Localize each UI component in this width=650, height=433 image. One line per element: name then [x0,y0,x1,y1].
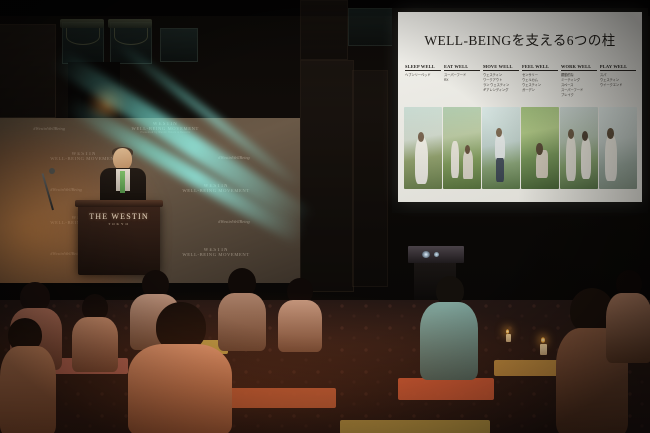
valance-left [60,19,104,28]
projector-device [408,246,464,263]
backdrop-hashtag: #WestinWellBeing [218,155,250,160]
pillar-item: ガーデン [522,88,558,93]
backdrop-hashtag: #WestinWellBeing [218,219,250,224]
speaker-head [113,148,132,170]
audience-member [72,294,118,370]
yoga-mat [398,378,494,400]
audience-torso [128,344,232,433]
pillar-heading: EAT WELL [444,64,480,71]
pillar-heading: WORK WELL [561,64,597,71]
slide-photo [404,107,442,189]
event-photo-scene: #WestinWellBeing WESTIN WELL-BEING MOVEM… [0,0,650,433]
backdrop-logo: WESTIN WELL-BEING MOVEMENT [182,248,249,258]
slide-photo-strip [404,107,637,189]
wall-panel-left-3 [352,70,388,287]
slide-photo [560,107,598,189]
audience-torso [0,346,56,433]
pillar-column: EAT WELL スーパーフード RX [444,64,480,99]
audience-member-far-right [606,270,650,362]
backdrop-logo: WESTIN WELL-BEING MOVEMENT [182,184,249,194]
pillar-column: PLAY WELL スパ ウェスティン ウイークエンド [600,64,636,99]
swag-drape-left [66,28,100,45]
podium-brand-plate: THE WESTIN TOKYO [78,212,160,226]
backdrop-campaign: WELL-BEING MOVEMENT [182,253,249,258]
backdrop-hashtag [266,126,267,131]
slide-pillar-columns: SLEEP WELL ヘブンリーベッド EAT WELL スーパーフード RX … [405,64,636,99]
audience-torso [72,317,118,372]
backdrop-campaign: WELL-BEING MOVEMENT [182,189,249,194]
pillar-heading: PLAY WELL [600,64,636,71]
audience-member-midleft [0,318,56,433]
pillar-item: ギアレンディング [483,88,519,93]
projector-lens-icon [422,251,430,258]
valance-right [108,19,152,28]
pillar-heading: FEEL WELL [522,64,558,71]
slide-photo [599,107,637,189]
audience-torso [278,300,322,352]
candle [540,344,547,355]
audience-member-foreground [128,302,232,433]
pillar-column: SLEEP WELL ヘブンリーベッド [405,64,441,99]
pillar-heading: MOVE WELL [483,64,519,71]
wall-panel-left-1 [0,24,56,118]
yoga-mat [340,420,490,433]
audience-torso [606,293,650,363]
corridor-light-glow [86,84,128,118]
swag-drape-right [114,28,148,45]
pillar-item: ウイークエンド [600,83,636,88]
candle-flame-icon [506,329,509,334]
window-transom-center [348,8,394,46]
microphone-head-icon [49,168,55,174]
podium-brand-name: THE WESTIN [78,212,160,221]
wall-panel-left-2 [300,60,354,292]
candle [506,334,511,342]
wall-panel-right-1 [300,0,348,60]
podium-city-name: TOKYO [78,222,160,226]
slide-photo [521,107,559,189]
presentation-slide: WELL-BEINGを支える6つの柱 SLEEP WELL ヘブンリーベッド E… [398,12,642,202]
audience-member-seated [420,276,478,380]
lectern-podium: THE WESTIN TOKYO [78,205,160,275]
pillar-column: MOVE WELL ウェスティン ワークアウト ラン ウェスティン ギアレンディ… [483,64,519,99]
pillar-item: RX [444,78,480,83]
slide-photo [443,107,481,189]
pillar-heading: SLEEP WELL [405,64,441,71]
window-transom-far-right [160,28,198,62]
slide-title: WELL-BEINGを支える6つの柱 [398,29,642,49]
slide-photo [482,107,520,189]
pillar-column: WORK WELL 躍動的な ミーティング スペース スーパーフード ブレイク [561,64,597,99]
podium-top-ledge [75,200,163,207]
yoga-mat [226,388,336,408]
projector-indicator-icon [434,252,439,257]
audience-member-photographing [278,278,322,350]
pillar-item: ブレイク [561,93,597,98]
speaker-green-tie [120,171,125,193]
pillar-column: FEEL WELL センサリー ウェルカム ウェスティン ガーデン [522,64,558,99]
audience-torso [420,302,478,380]
candle-flame-icon [541,337,545,343]
pillar-item: ヘブンリーベッド [405,73,441,78]
